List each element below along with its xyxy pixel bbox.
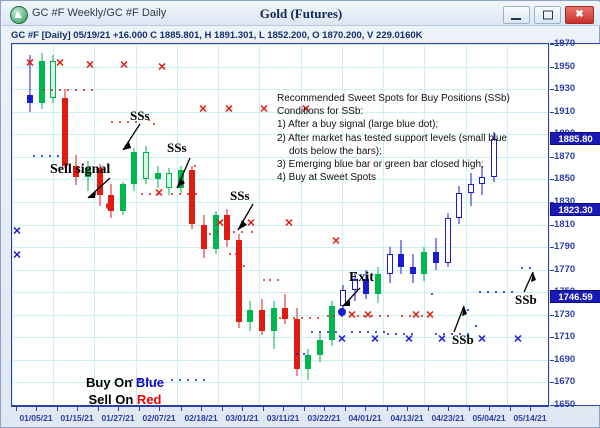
price-tick-label: 1790 — [554, 241, 575, 252]
date-tick-minor — [16, 407, 17, 411]
price-highlight-stop-level: 1823.30 — [550, 203, 600, 216]
date-tick-minor — [510, 407, 511, 411]
price-tick-label: 1950 — [554, 61, 575, 72]
date-tick-label: 01/05/21 — [19, 413, 52, 423]
date-tick-minor — [304, 407, 305, 411]
date-tick-minor — [469, 407, 470, 411]
date-tick-label: 04/23/21 — [431, 413, 464, 423]
price-highlight-support-level: 1746.59 — [550, 290, 600, 303]
date-tick — [118, 407, 119, 411]
price-chart-plot[interactable]: ✕✕✕✕✕✕✕✕✕✕✕✕✕✕✕✕✕✕✕✕✕✕✕✕✕✕ Recommended S… — [11, 43, 549, 406]
date-tick — [489, 407, 490, 411]
maximize-button[interactable] — [534, 6, 561, 24]
date-tick — [324, 407, 325, 411]
price-tick-label: 1910 — [554, 106, 575, 117]
date-tick-label: 01/15/21 — [60, 413, 93, 423]
date-tick-label: 02/07/21 — [142, 413, 175, 423]
date-tick — [159, 407, 160, 411]
date-tick-label: 05/14/21 — [513, 413, 546, 423]
price-tick-label: 1850 — [554, 173, 575, 184]
date-tick-label: 05/04/21 — [472, 413, 505, 423]
date-tick-minor — [181, 407, 182, 411]
minimize-button[interactable] — [503, 6, 530, 24]
gridline-v — [548, 44, 549, 405]
date-tick — [77, 407, 78, 411]
close-button[interactable]: ✖ — [565, 6, 594, 24]
window-controls: ✖ — [503, 6, 594, 24]
price-tick-label: 1670 — [554, 376, 575, 387]
date-tick-label: 03/22/21 — [307, 413, 340, 423]
date-tick-label: 01/27/21 — [101, 413, 134, 423]
date-tick-minor — [345, 407, 346, 411]
date-tick — [283, 407, 284, 411]
price-tick-label: 1810 — [554, 219, 575, 230]
date-tick — [448, 407, 449, 411]
date-tick-minor — [57, 407, 58, 411]
price-tick-label: 1730 — [554, 309, 575, 320]
date-tick — [365, 407, 366, 411]
date-tick-label: 03/01/21 — [225, 413, 258, 423]
price-axis[interactable]: 1970195019301910189018701850183018101790… — [550, 43, 600, 406]
date-tick-label: 02/18/21 — [184, 413, 217, 423]
date-tick-minor — [139, 407, 140, 411]
date-tick-label: 03/11/21 — [267, 413, 300, 423]
title-bar: GC #F Weekly/GC #F Daily Gold (Futures) … — [2, 2, 600, 26]
quote-info-bar: GC #F [Daily] 05/19/21 +16.000 C 1885.80… — [11, 30, 591, 43]
date-axis[interactable]: 01/05/2101/15/2101/27/2102/07/2102/18/21… — [11, 406, 549, 426]
date-tick-minor — [222, 407, 223, 411]
price-highlight-last-price: 1885.80 — [550, 132, 600, 145]
price-tick-label: 1690 — [554, 354, 575, 365]
date-tick-label: 04/13/21 — [390, 413, 423, 423]
price-tick-label: 1770 — [554, 264, 575, 275]
price-tick-label: 1650 — [554, 399, 575, 410]
chart-window: GC #F Weekly/GC #F Daily Gold (Futures) … — [0, 0, 600, 428]
annotation-ssb-2: SSb — [515, 292, 537, 308]
date-tick — [201, 407, 202, 411]
date-tick-minor — [263, 407, 264, 411]
date-tick — [407, 407, 408, 411]
date-tick — [242, 407, 243, 411]
date-tick-minor — [428, 407, 429, 411]
ssb-1-arrow — [12, 44, 549, 406]
price-tick-label: 1870 — [554, 151, 575, 162]
date-tick-label: 04/01/21 — [348, 413, 381, 423]
date-tick — [530, 407, 531, 411]
price-tick-label: 1930 — [554, 83, 575, 94]
price-tick-label: 1710 — [554, 331, 575, 342]
date-tick-minor — [387, 407, 388, 411]
date-tick-minor — [98, 407, 99, 411]
date-tick — [36, 407, 37, 411]
